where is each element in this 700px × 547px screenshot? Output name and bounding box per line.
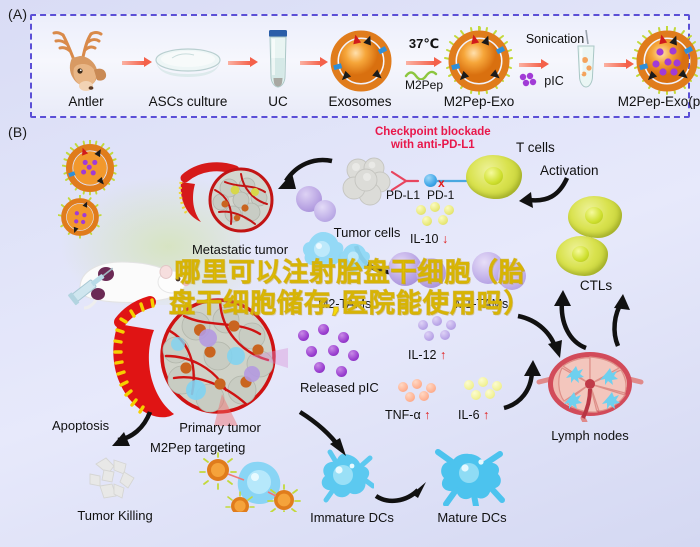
immature-dcs-label: Immature DCs bbox=[310, 510, 394, 525]
process-arrow-6 bbox=[604, 60, 634, 69]
m2pep-label: M2Pep bbox=[405, 78, 443, 92]
pd-1-label: PD-1 bbox=[427, 188, 454, 202]
il12-particle bbox=[432, 316, 442, 326]
released-pic-particle bbox=[338, 332, 349, 343]
pd-l1-label: PD-L1 bbox=[386, 188, 420, 202]
panel-a-caption-m2pep-exo: M2Pep-Exo bbox=[444, 94, 515, 109]
ctl-nucleus-1 bbox=[585, 207, 603, 224]
released-pic-particle bbox=[306, 346, 317, 357]
exosome-icon bbox=[330, 30, 392, 92]
released-pic-particle bbox=[318, 324, 329, 335]
tnfa-cytokine-label: TNF-α ↑ bbox=[385, 408, 430, 422]
released-pic-particle bbox=[348, 350, 359, 361]
il10-arrow: ↓ bbox=[442, 232, 448, 246]
il6-particle bbox=[478, 377, 488, 387]
dc-cell-left-2 bbox=[336, 240, 372, 274]
panel-a-container: Antler ASCs culture bbox=[30, 14, 690, 118]
checkpoint-blockade-label: Checkpoint blockade with anti-PD-L1 bbox=[375, 126, 491, 152]
dc-maturation-arrow bbox=[372, 470, 432, 504]
tnfa-particle bbox=[419, 391, 429, 401]
mature-dc-to-ctl-arrow bbox=[540, 290, 596, 352]
panel-a-caption-exosomes: Exosomes bbox=[328, 94, 391, 109]
injected-exosome-icon-2 bbox=[58, 195, 102, 239]
ctl-cell-1 bbox=[568, 196, 622, 238]
m2pep-targeting-illustration bbox=[198, 448, 304, 512]
peptide-exosome-icon bbox=[444, 26, 514, 96]
tnfa-name: TNF-α bbox=[385, 408, 421, 422]
il6-particle bbox=[464, 380, 474, 390]
ctl-nucleus-2 bbox=[572, 246, 589, 262]
panel-a-caption-antler: Antler bbox=[68, 94, 103, 109]
temperature-label: 37℃ bbox=[409, 36, 439, 52]
il12-arrow: ↑ bbox=[440, 348, 446, 362]
lymph-to-ctl-arrow bbox=[604, 294, 640, 350]
il10-particle bbox=[438, 215, 448, 225]
il10-particle bbox=[416, 205, 426, 215]
scientific-figure: (A) bbox=[0, 0, 700, 547]
process-arrow-1 bbox=[122, 58, 152, 67]
t-cell-primary bbox=[466, 155, 522, 199]
released-pic-particle bbox=[314, 362, 325, 373]
panel-a-caption-uc: UC bbox=[268, 94, 288, 109]
checkpoint-line-1: Checkpoint blockade bbox=[375, 126, 491, 139]
dc-to-lymph-arrow bbox=[498, 360, 550, 412]
mature-dcs-label: Mature DCs bbox=[437, 510, 506, 525]
process-arrow-2 bbox=[228, 58, 258, 67]
deer-antler-icon bbox=[50, 24, 116, 92]
il6-cytokine-label: IL-6 ↑ bbox=[458, 408, 489, 422]
tnfa-particle bbox=[412, 379, 422, 389]
panel-a-caption-m2pep-exo-pic: M2Pep-Exo(pIC) bbox=[618, 94, 700, 109]
il12-name: IL-12 bbox=[408, 348, 437, 362]
il12-particle bbox=[440, 330, 450, 340]
centrifuge-tube-icon bbox=[263, 28, 293, 92]
petri-dish-icon bbox=[152, 44, 224, 84]
ctl-cell-2 bbox=[556, 236, 608, 276]
injected-exosome-icon bbox=[62, 140, 118, 196]
il6-particle bbox=[485, 389, 495, 399]
tumor-killing-label: Tumor Killing bbox=[77, 508, 152, 523]
il10-particle bbox=[430, 202, 440, 212]
il6-name: IL-6 bbox=[458, 408, 480, 422]
tumor-killing-illustration bbox=[78, 450, 148, 508]
m2-tam-cell-2 bbox=[416, 258, 446, 288]
panel-a-caption-asc: ASCs culture bbox=[149, 94, 228, 109]
il10-particle bbox=[422, 216, 432, 226]
panel-b-label: (B) bbox=[8, 124, 27, 140]
m1-tams-label: M1-TAMs bbox=[455, 297, 508, 311]
t-cells-label: T cells bbox=[516, 140, 555, 155]
activation-arrow bbox=[515, 170, 571, 210]
panel-a-label: (A) bbox=[8, 6, 27, 22]
process-arrow-4 bbox=[406, 58, 442, 67]
process-arrow-5 bbox=[519, 60, 549, 69]
il6-arrow: ↑ bbox=[483, 408, 489, 422]
il12-particle bbox=[424, 331, 434, 341]
apoptosis-label: Apoptosis bbox=[52, 418, 109, 433]
pic-cluster-icon bbox=[518, 72, 538, 88]
released-pic-particle bbox=[298, 330, 309, 341]
il12-particle bbox=[446, 320, 456, 330]
tumor-to-dc-arrow bbox=[296, 408, 358, 458]
lymph-node-illustration bbox=[533, 348, 647, 422]
lymph-nodes-label: Lymph nodes bbox=[551, 428, 629, 443]
m1-tam-cell-2 bbox=[498, 262, 526, 290]
metastatic-tumor-label: Metastatic tumor bbox=[192, 242, 288, 257]
released-pic-particle bbox=[336, 366, 347, 377]
tnfa-particle bbox=[398, 382, 408, 392]
il12-cytokine-label: IL-12 ↑ bbox=[408, 348, 446, 362]
tam-cell-scatter-2 bbox=[314, 200, 336, 222]
il12-particle bbox=[418, 320, 428, 330]
il10-particle bbox=[444, 205, 454, 215]
pic-loaded-exosome-icon bbox=[632, 26, 700, 96]
released-pic-particle bbox=[328, 345, 339, 356]
tnfa-arrow: ↑ bbox=[424, 408, 430, 422]
sonication-tube-icon bbox=[572, 30, 600, 92]
process-arrow-3 bbox=[300, 58, 328, 67]
released-pic-label: Released pIC bbox=[300, 380, 379, 395]
tnfa-particle bbox=[405, 392, 415, 402]
m2-tams-label: M2-TAMs bbox=[318, 297, 371, 311]
mature-dc-illustration bbox=[432, 440, 506, 506]
primary-tumor-label: Primary tumor bbox=[179, 420, 261, 435]
t-cell-nucleus bbox=[484, 167, 503, 185]
pic-label: pIC bbox=[544, 74, 563, 88]
il6-particle bbox=[471, 390, 481, 400]
